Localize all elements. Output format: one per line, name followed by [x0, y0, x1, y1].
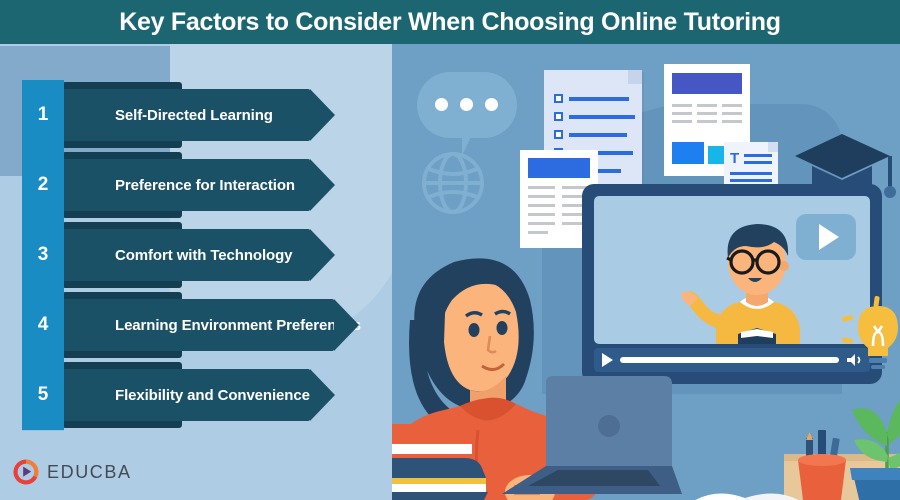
- factors-list: Self-Directed Learning 1 Preference for …: [0, 80, 420, 430]
- factor-label: Self-Directed Learning: [62, 107, 273, 124]
- list-item[interactable]: Comfort with Technology 3: [0, 220, 420, 290]
- factor-bar[interactable]: Preference for Interaction: [62, 159, 310, 211]
- page-fold-icon: [768, 142, 778, 152]
- factor-label: Preference for Interaction: [62, 177, 295, 194]
- list-item[interactable]: Self-Directed Learning 1: [0, 80, 420, 150]
- factor-bar[interactable]: Flexibility and Convenience: [62, 369, 310, 421]
- document-header-block: [672, 73, 742, 94]
- laptop: [496, 374, 676, 494]
- factor-bar[interactable]: Comfort with Technology: [62, 229, 310, 281]
- document-image-block: [672, 142, 704, 164]
- page-fold-icon: [628, 70, 642, 84]
- factor-label: Comfort with Technology: [62, 247, 292, 264]
- factor-bar[interactable]: Self-Directed Learning: [62, 89, 310, 141]
- educba-swirl-icon: [12, 458, 40, 486]
- play-button-overlay[interactable]: [796, 214, 856, 260]
- factor-bar[interactable]: Learning Environment Preferences: [62, 299, 334, 351]
- factor-label: Learning Environment Preferences: [62, 317, 361, 334]
- letter-t-icon: T: [730, 151, 739, 166]
- bubble-dot-icon: [485, 98, 498, 111]
- list-item[interactable]: Learning Environment Preferences 4: [0, 290, 420, 360]
- page-title: Key Factors to Consider When Choosing On…: [119, 8, 780, 37]
- educba-wordmark: EDUCBA: [47, 462, 132, 483]
- factor-number-badge: 5: [22, 360, 64, 430]
- factor-label: Flexibility and Convenience: [62, 387, 310, 404]
- bubble-dot-icon: [435, 98, 448, 111]
- factor-number-badge: 3: [22, 220, 64, 290]
- factor-number-badge: 2: [22, 150, 64, 220]
- bubble-dot-icon: [460, 98, 473, 111]
- open-book: [682, 464, 802, 500]
- illustration-panel: T: [392, 44, 900, 500]
- list-item[interactable]: Preference for Interaction 2: [0, 150, 420, 220]
- infographic-canvas: T: [0, 0, 900, 500]
- lightbulb-icon: [844, 298, 900, 376]
- monitor-screen: [594, 196, 870, 344]
- list-item[interactable]: Flexibility and Convenience 5: [0, 360, 420, 430]
- video-controls[interactable]: [594, 348, 870, 372]
- factor-number-badge: 1: [22, 80, 64, 150]
- progress-bar[interactable]: [620, 357, 839, 363]
- header-bar: Key Factors to Consider When Choosing On…: [0, 0, 900, 44]
- pencil-cup: [792, 432, 848, 500]
- factor-number-badge: 4: [22, 290, 64, 360]
- play-triangle-icon: [819, 224, 839, 250]
- potted-plant: [844, 374, 900, 500]
- globe-icon: [422, 152, 484, 214]
- document-header-block: [528, 158, 590, 178]
- educba-logo[interactable]: EDUCBA: [12, 458, 132, 486]
